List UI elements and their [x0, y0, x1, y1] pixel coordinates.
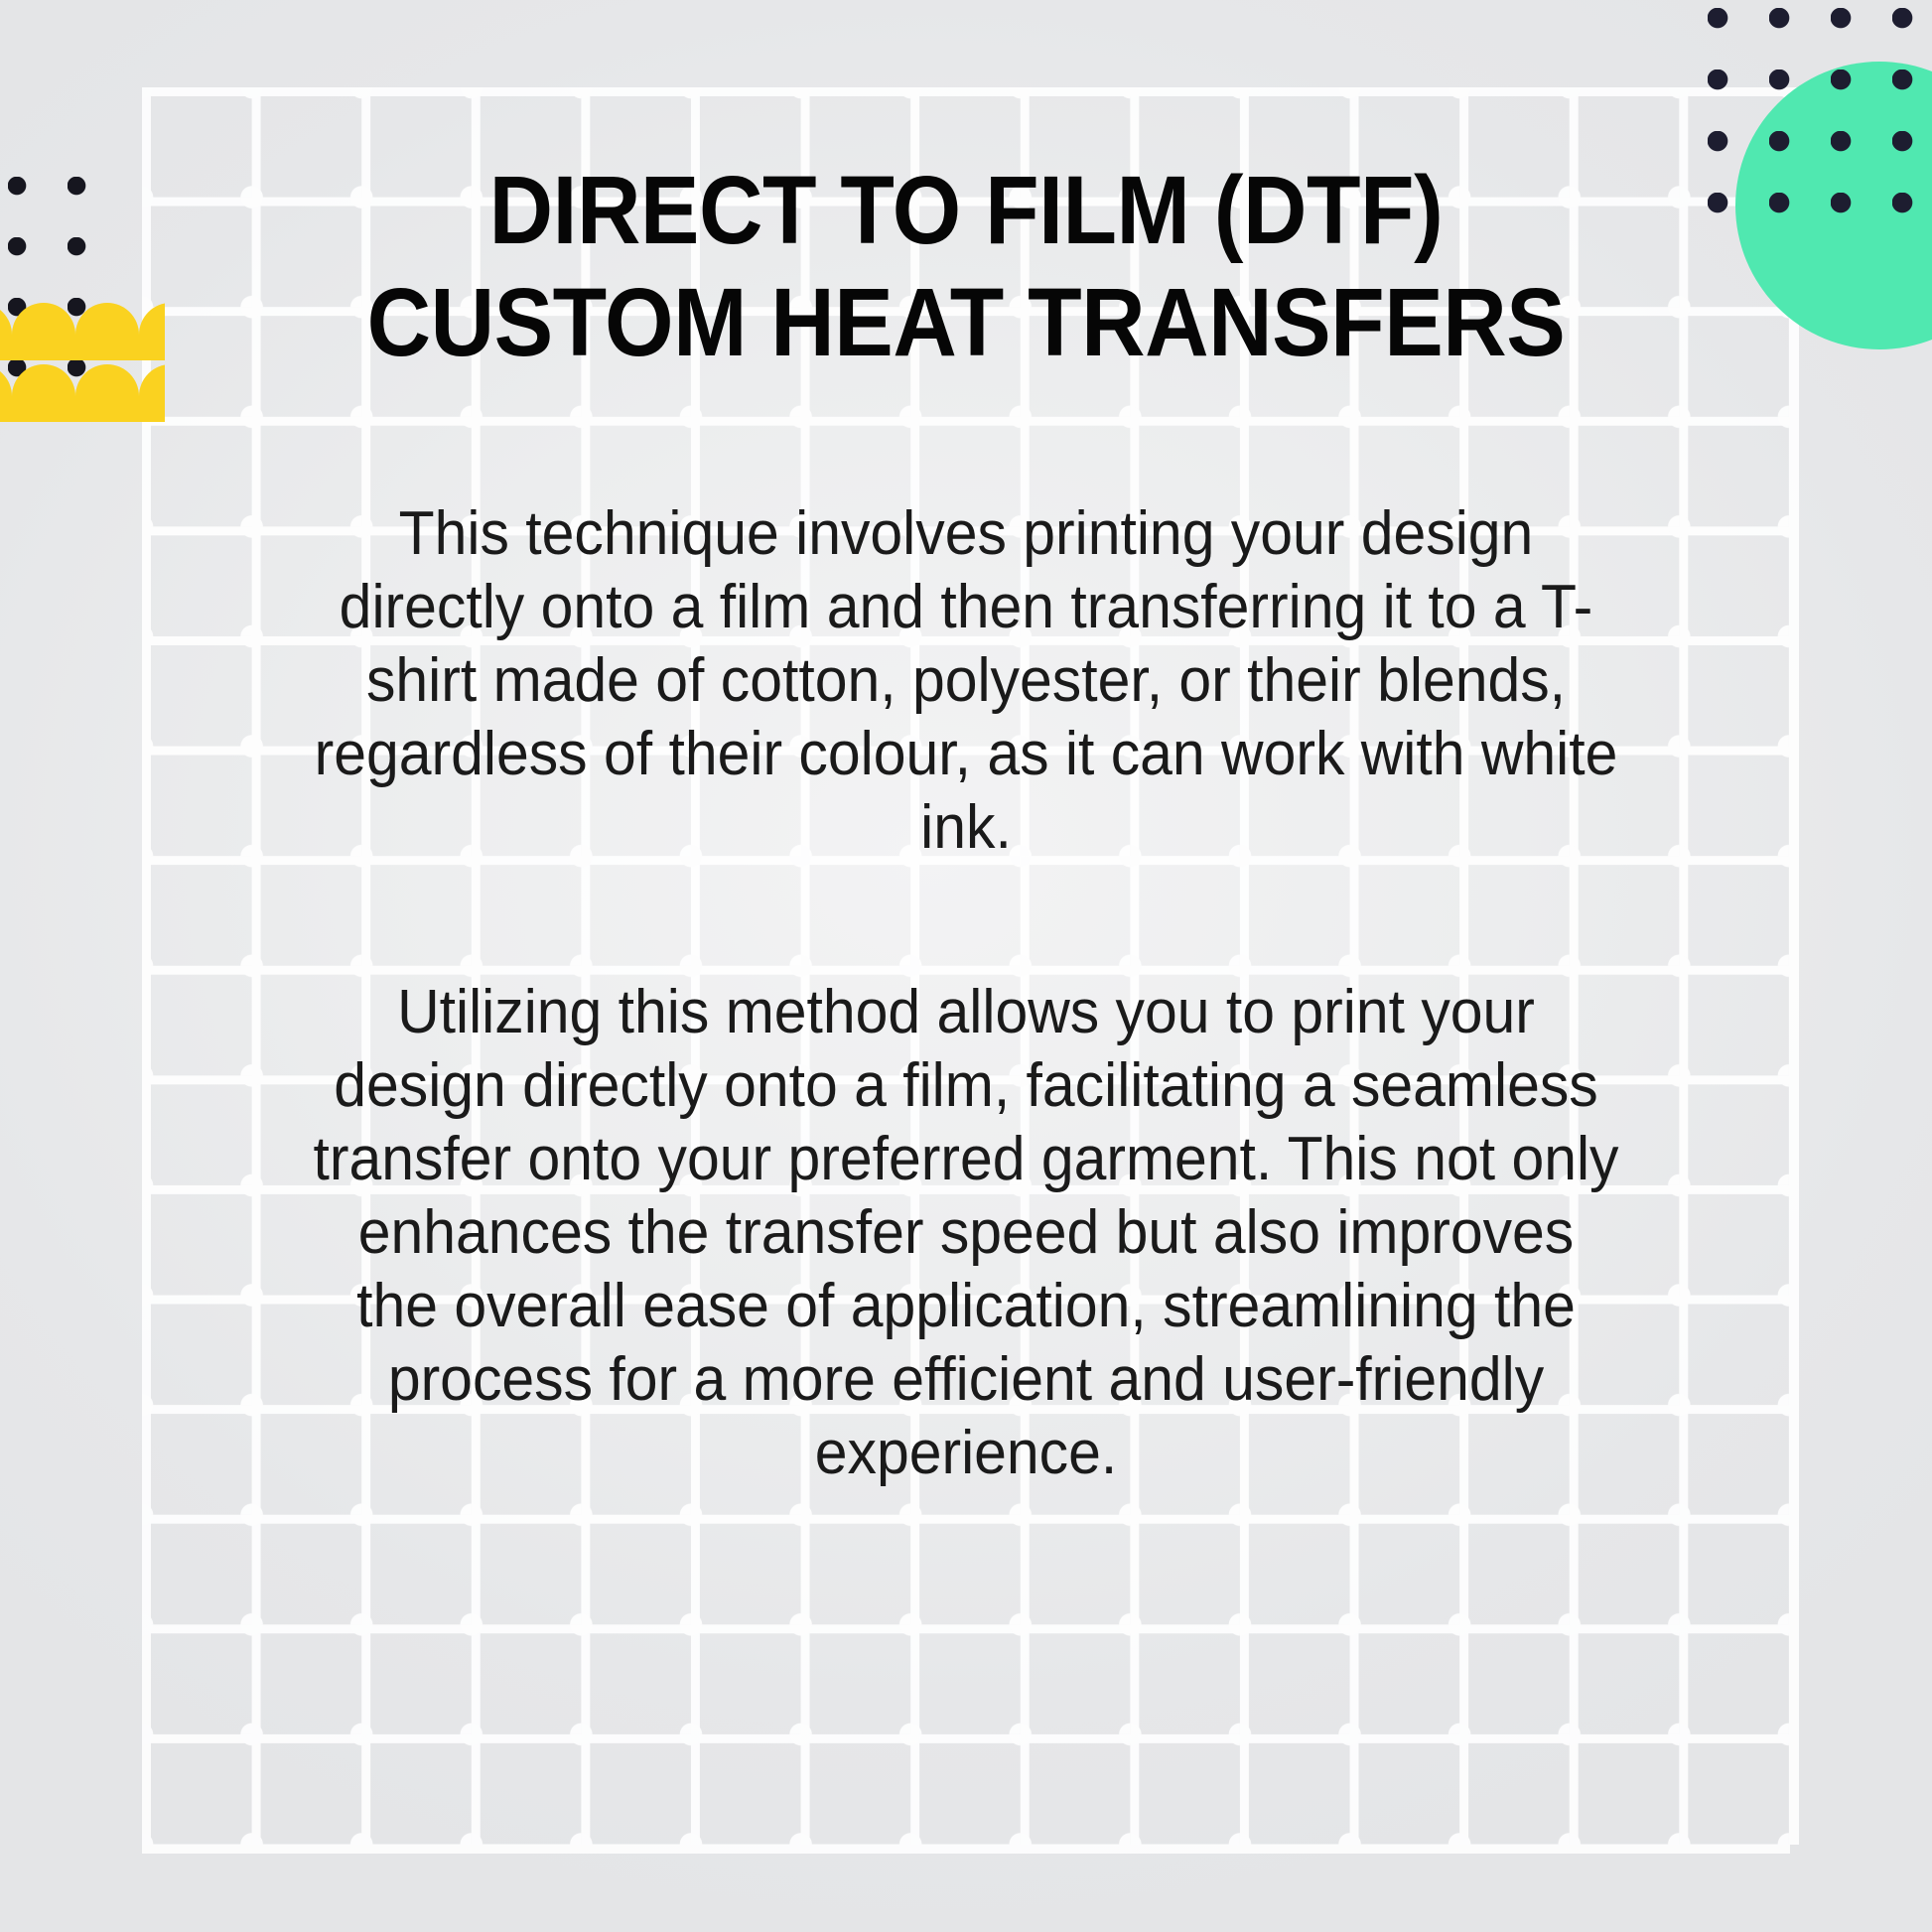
body-copy: This technique involves printing your de… [311, 497, 1622, 1490]
slide-content: DIRECT TO FILM (DTF) CUSTOM HEAT TRANSFE… [0, 0, 1932, 1932]
page-title: DIRECT TO FILM (DTF) CUSTOM HEAT TRANSFE… [363, 154, 1569, 378]
page-title-line-2: CUSTOM HEAT TRANSFERS [363, 266, 1569, 378]
body-paragraph-1: This technique involves printing your de… [311, 497, 1622, 865]
body-paragraph-2: Utilizing this method allows you to prin… [311, 976, 1622, 1490]
page-title-line-1: DIRECT TO FILM (DTF) [363, 154, 1569, 266]
slide-canvas: DIRECT TO FILM (DTF) CUSTOM HEAT TRANSFE… [0, 0, 1932, 1932]
